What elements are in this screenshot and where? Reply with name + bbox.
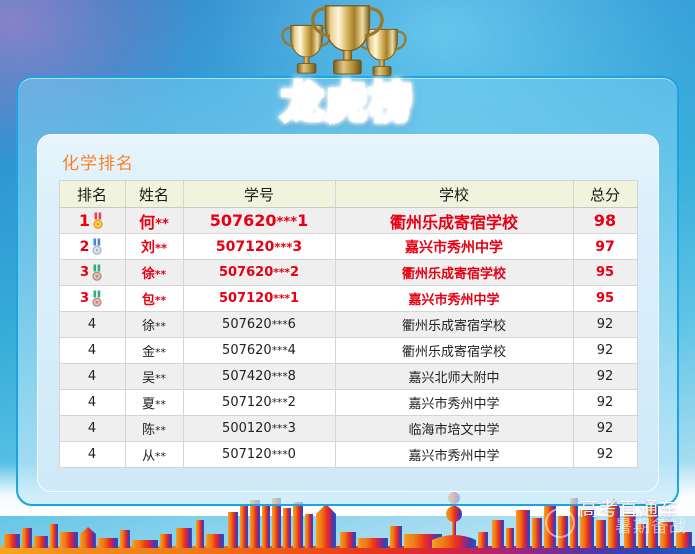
id-mask: ***	[272, 318, 288, 331]
id-mask: ***	[274, 240, 292, 254]
table-row: 4金**507620***4衢州乐成寄宿学校92	[59, 338, 637, 364]
table-header-row: 排名 姓名 学号 学校 总分	[59, 181, 637, 208]
table-row: 2刘**507120***3嘉兴市秀州中学97	[59, 234, 637, 260]
id-mask: ***	[272, 448, 288, 461]
rank-value: 4	[88, 369, 96, 384]
id-mask: ***	[272, 344, 288, 357]
column-header-score: 总分	[573, 181, 637, 208]
cell-name: 金**	[125, 338, 183, 364]
rank-value: 4	[88, 421, 96, 436]
table-row: 1何**507620***1衢州乐成寄宿学校98	[59, 208, 637, 234]
id-mask: ***	[277, 215, 298, 230]
ranking-card: 化学排名 排名 姓名 学号 学校 总分 1何**507620***1衢州乐成寄宿…	[37, 134, 659, 492]
cell-school: 嘉兴北师大附中	[335, 364, 573, 390]
cell-name: 何**	[125, 208, 183, 234]
cell-rank: 3	[59, 286, 125, 312]
column-header-rank: 排名	[59, 181, 125, 208]
id-mask: ***	[272, 370, 288, 383]
cell-name: 徐**	[125, 260, 183, 286]
page-title: 龙虎榜 龙虎榜	[0, 82, 695, 124]
cell-score: 95	[573, 286, 637, 312]
cell-school: 衢州乐成寄宿学校	[335, 260, 573, 286]
name-mask: **	[155, 372, 166, 385]
cell-name: 刘**	[125, 234, 183, 260]
cell-score: 92	[573, 364, 637, 390]
cell-score: 92	[573, 312, 637, 338]
ranking-table-body: 1何**507620***1衢州乐成寄宿学校982刘**507120***3嘉兴…	[59, 208, 637, 468]
cell-rank: 4	[59, 416, 125, 442]
cell-school: 衢州乐成寄宿学校	[335, 208, 573, 234]
name-mask: **	[155, 424, 166, 437]
cell-rank: 4	[59, 364, 125, 390]
gold-medal-icon	[91, 211, 105, 231]
cell-name: 吴**	[125, 364, 183, 390]
cell-school: 临海市培文中学	[335, 416, 573, 442]
rank-value: 3	[80, 291, 89, 306]
cell-rank: 4	[59, 312, 125, 338]
column-header-school: 学校	[335, 181, 573, 208]
table-row: 4陈**500120***3临海市培文中学92	[59, 416, 637, 442]
cell-rank: 4	[59, 442, 125, 468]
rank-value: 1	[79, 211, 90, 230]
cell-student-id: 507620***2	[183, 260, 335, 286]
cell-score: 97	[573, 234, 637, 260]
cell-student-id: 500120***3	[183, 416, 335, 442]
column-header-name: 姓名	[125, 181, 183, 208]
name-mask: **	[155, 268, 166, 281]
rank-value: 4	[88, 447, 96, 462]
cell-rank: 2	[59, 234, 125, 260]
bronze-medal-icon	[90, 264, 104, 282]
cell-score: 92	[573, 442, 637, 468]
cell-student-id: 507120***3	[183, 234, 335, 260]
id-mask: ***	[273, 266, 290, 279]
rank-value: 2	[80, 239, 90, 255]
id-mask: ***	[272, 396, 288, 409]
section-title: 化学排名	[62, 149, 644, 174]
cell-student-id: 507120***2	[183, 390, 335, 416]
cell-school: 嘉兴市秀州中学	[335, 286, 573, 312]
name-mask: **	[155, 346, 166, 359]
cell-score: 92	[573, 416, 637, 442]
name-mask: **	[155, 217, 169, 232]
cell-name: 包**	[125, 286, 183, 312]
cell-rank: 3	[59, 260, 125, 286]
name-mask: **	[155, 320, 166, 333]
cell-student-id: 507620***4	[183, 338, 335, 364]
rank-value: 4	[88, 317, 96, 332]
cell-rank: 4	[59, 338, 125, 364]
cell-name: 夏**	[125, 390, 183, 416]
id-mask: ***	[273, 292, 290, 305]
cell-score: 98	[573, 208, 637, 234]
ranking-table: 排名 姓名 学号 学校 总分 1何**507620***1衢州乐成寄宿学校982…	[59, 180, 638, 468]
table-row: 4吴**507420***8嘉兴北师大附中92	[59, 364, 637, 390]
watermark-circle-icon	[545, 508, 575, 538]
cell-school: 嘉兴市秀州中学	[335, 234, 573, 260]
table-row: 4徐**507620***6衢州乐成寄宿学校92	[59, 312, 637, 338]
rank-value: 4	[88, 343, 96, 358]
cell-student-id: 507120***1	[183, 286, 335, 312]
table-row: 4从**507120***0嘉兴市秀州中学92	[59, 442, 637, 468]
cell-student-id: 507620***6	[183, 312, 335, 338]
silver-medal-icon	[90, 238, 104, 256]
cell-school: 嘉兴市秀州中学	[335, 442, 573, 468]
rank-value: 3	[80, 265, 89, 280]
cell-student-id: 507420***8	[183, 364, 335, 390]
cell-score: 92	[573, 338, 637, 364]
cell-student-id: 507620***1	[183, 208, 335, 234]
page-title-text: 龙虎榜	[281, 78, 413, 127]
cell-score: 92	[573, 390, 637, 416]
cell-school: 衢州乐成寄宿学校	[335, 338, 573, 364]
name-mask: **	[155, 294, 166, 307]
name-mask: **	[155, 450, 166, 463]
cell-rank: 1	[59, 208, 125, 234]
name-mask: **	[155, 398, 166, 411]
column-header-id: 学号	[183, 181, 335, 208]
cell-name: 陈**	[125, 416, 183, 442]
table-row: 4夏**507120***2嘉兴市秀州中学92	[59, 390, 637, 416]
table-row: 3徐**507620***2衢州乐成寄宿学校95	[59, 260, 637, 286]
bronze-medal-icon	[90, 290, 104, 308]
id-mask: ***	[272, 422, 288, 435]
name-mask: **	[155, 241, 167, 255]
ranking-poster: 龙虎榜 龙虎榜 化学排名 排名 姓名 学号 学校 总分 1何**507620**…	[0, 0, 695, 554]
cell-student-id: 507120***0	[183, 442, 335, 468]
cell-rank: 4	[59, 390, 125, 416]
cell-score: 95	[573, 260, 637, 286]
cell-name: 徐**	[125, 312, 183, 338]
cell-school: 衢州乐成寄宿学校	[335, 312, 573, 338]
watermark-line2: 暑期备战	[615, 512, 687, 537]
cell-name: 从**	[125, 442, 183, 468]
rank-value: 4	[88, 395, 96, 410]
table-row: 3包**507120***1嘉兴市秀州中学95	[59, 286, 637, 312]
cell-school: 嘉兴市秀州中学	[335, 390, 573, 416]
